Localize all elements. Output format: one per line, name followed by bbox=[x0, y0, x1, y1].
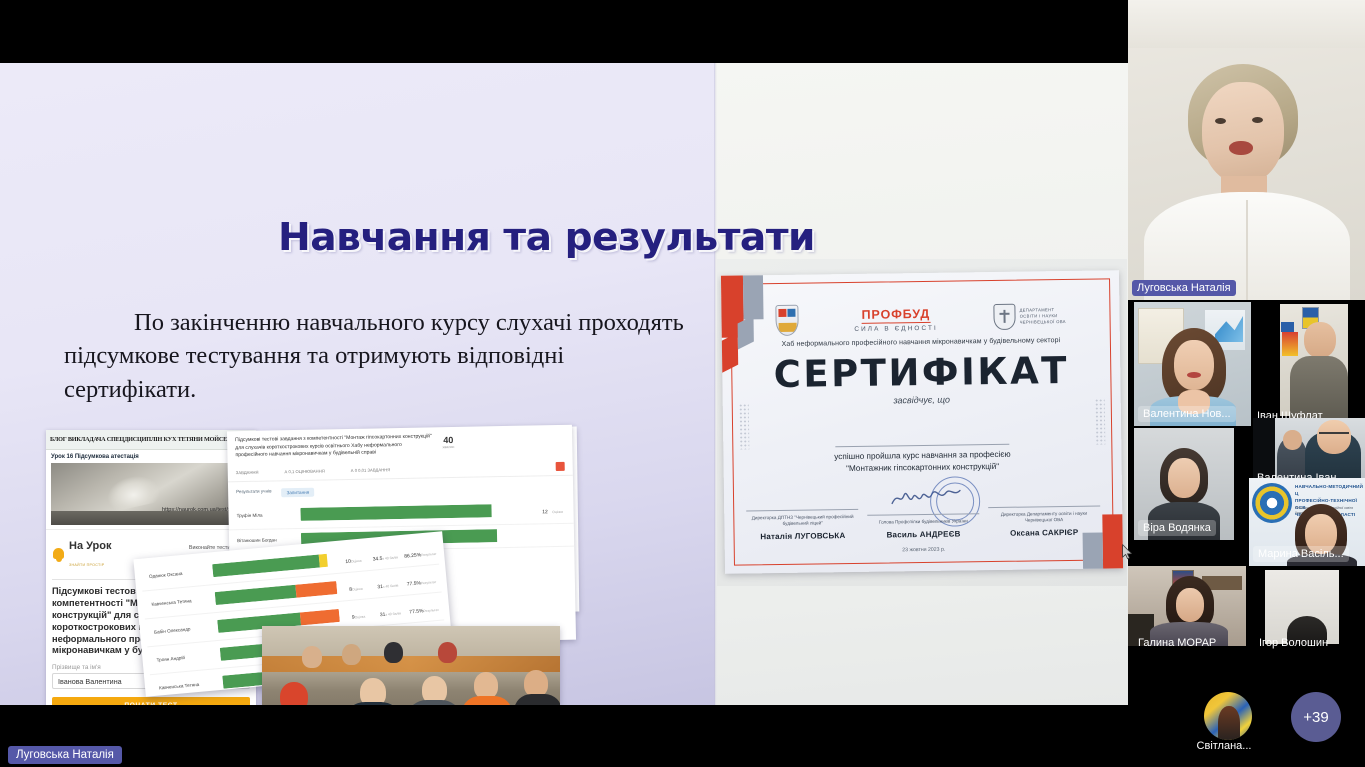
video-tile-halyna-morar[interactable] bbox=[1128, 566, 1246, 646]
naurok-brand: На Урок ЗНАЙТИ ПРОСТІР bbox=[69, 537, 112, 571]
participant-name-label: Світлана... bbox=[1176, 738, 1272, 754]
student-head bbox=[360, 678, 386, 705]
row-name: Бабін Олександр bbox=[154, 625, 212, 635]
video-tile-maryna-vasyl[interactable]: НАВЧАЛЬНО-МЕТОДИЧНИЙ ЦПРОФЕСІЙНО-ТЕХНІЧН… bbox=[1249, 478, 1365, 566]
city-emblem-icon bbox=[775, 304, 798, 335]
participant-name-label: Віра Водянка bbox=[1138, 520, 1216, 536]
screen: Навчання та результати По закінченню нав… bbox=[0, 0, 1365, 767]
row-name: Кавченська Тетяна bbox=[151, 597, 209, 607]
certificate-dots-left bbox=[739, 403, 750, 449]
row-bar bbox=[215, 581, 338, 605]
speaker-eye-right bbox=[1252, 117, 1263, 123]
signatory: Директорка ДПТНЗ "Чернівецький професійн… bbox=[747, 509, 859, 542]
duration-value: 40 bbox=[442, 435, 454, 445]
certificate-title: СЕРТИФІКАТ bbox=[722, 348, 1121, 397]
certificate-profession-line-2: "Монтажник гіпсокартонних конструкцій" bbox=[846, 462, 999, 473]
certificate: ПРОФБУД СИЛА В ЄДНОСТІ ДЕПАРТАМЕНТ ОСВІТ… bbox=[721, 270, 1123, 574]
certificate-logo-row: ПРОФБУД СИЛА В ЄДНОСТІ ДЕПАРТАМЕНТ ОСВІТ… bbox=[721, 296, 1119, 340]
row-score: 10Оцінка bbox=[339, 548, 367, 568]
speaker-wall-stripe bbox=[1128, 0, 1365, 48]
student-head bbox=[524, 670, 548, 697]
classroom-photo bbox=[262, 626, 560, 705]
row-name: Вітанюшин Богдан bbox=[237, 537, 295, 543]
overflow-participants-badge[interactable]: +39 bbox=[1291, 692, 1341, 742]
naurok-brand-name: На Урок bbox=[69, 540, 112, 552]
participant-name-label-ihor: Ігор Волошин bbox=[1259, 637, 1328, 649]
row-points: 31з 40 балів bbox=[374, 573, 402, 593]
profbud-slogan: СИЛА В ЄДНОСТІ bbox=[854, 324, 938, 332]
signatory-role: Директорка Департаменту освіти і науки Ч… bbox=[988, 510, 1100, 525]
row-percent: 77.5%Результат bbox=[408, 598, 436, 618]
shared-slide[interactable]: Навчання та результати По закінченню нав… bbox=[0, 63, 1128, 705]
meta-0: ЗАВДАННЯ bbox=[236, 470, 259, 475]
participant-lips bbox=[1187, 372, 1201, 378]
video-tile-ihor-voloshyn[interactable] bbox=[1265, 570, 1339, 644]
department-line-1: ОСВІТИ І НАУКИ bbox=[1020, 313, 1058, 319]
signatory-name: Наталія ЛУГОВСЬКА bbox=[747, 531, 859, 542]
results-header-text: Підсумкові тестові завдання з компетентн… bbox=[235, 433, 435, 460]
row-bar bbox=[300, 503, 533, 520]
certificate-dots-right bbox=[1095, 398, 1106, 444]
avatar-person bbox=[1218, 706, 1240, 740]
department-text: ДЕПАРТАМЕНТ ОСВІТИ І НАУКИ ЧЕРНІВЕЦЬКОЇ … bbox=[1020, 307, 1066, 326]
meta-2: А 0 0,01 ЗАВДАННЯ bbox=[351, 467, 391, 473]
institution-logo-icon bbox=[1252, 483, 1292, 523]
signatory: Директорка Департаменту освіти і науки Ч… bbox=[988, 505, 1100, 538]
naurok-brand-tagline: ЗНАЙТИ ПРОСТІР bbox=[69, 563, 105, 567]
participant-face bbox=[1174, 340, 1214, 390]
video-tile-valentyna-nov[interactable]: Валентина Нов... bbox=[1134, 302, 1251, 426]
row-name: Оданюк Оксана bbox=[149, 569, 207, 579]
certificate-profession-line-1: успішно пройшла курс навчання за професі… bbox=[834, 450, 1011, 461]
participant-face bbox=[1176, 588, 1204, 622]
name-input-value: Іванова Валентина bbox=[58, 677, 122, 686]
blog-site-header-text: БЛОГ ВИКЛАДАЧА СПЕЦДИСЦИПЛІН КУХ ТЕТЯНИ … bbox=[50, 436, 236, 443]
row-score: 9Оцінка bbox=[344, 604, 372, 624]
student-head bbox=[302, 646, 322, 668]
speaker-eye-left bbox=[1215, 118, 1226, 124]
glasses-icon bbox=[1319, 432, 1349, 438]
participant-name-label: Марина Васіль... bbox=[1253, 546, 1349, 562]
student-head bbox=[384, 642, 403, 663]
row-points: 31з 40 балів bbox=[376, 601, 404, 621]
row-name: Труфін Міла bbox=[237, 512, 295, 518]
page-title: Навчання та результати bbox=[278, 215, 815, 259]
start-test-button[interactable]: ПОЧАТИ ТЕСТ bbox=[52, 697, 250, 705]
signatory-name: Василь АНДРЕЄВ bbox=[867, 529, 979, 540]
speaker-mouth bbox=[1229, 141, 1253, 155]
participant-name-label-halyna: Галина МОРАР bbox=[1138, 637, 1216, 649]
meta-1: А 0,1 ОЦІНЮВАННЯ bbox=[284, 468, 324, 474]
participant-name-label: Валентина Нов... bbox=[1138, 406, 1236, 422]
video-tile-active-speaker[interactable]: Луговська Наталія bbox=[1128, 0, 1365, 300]
signature-rule bbox=[747, 509, 859, 512]
signature-rule bbox=[867, 514, 979, 517]
video-tile-vira-vodianka[interactable]: Віра Водянка bbox=[1134, 428, 1234, 540]
speaker-name-label: Луговська Наталія bbox=[1132, 280, 1236, 296]
flag-icon bbox=[556, 462, 565, 471]
row-percent: 77.5%Результат bbox=[406, 570, 434, 590]
duration-badge: 40 хвилин bbox=[442, 435, 454, 449]
blog-lesson-title: Урок 16 Підсумкова атестація bbox=[46, 450, 256, 462]
bell-icon bbox=[52, 546, 65, 562]
signatory-name: Оксана САКРІЄР bbox=[988, 528, 1100, 539]
profbud-logo: ПРОФБУД СИЛА В ЄДНОСТІ bbox=[854, 304, 938, 332]
blog-ceiling-photo bbox=[51, 463, 251, 525]
row-percent: 86.25%Результат bbox=[403, 542, 431, 562]
blog-site-header: БЛОГ ВИКЛАДАЧА СПЕЦДИСЦИПЛІН КУХ ТЕТЯНИ … bbox=[46, 430, 256, 450]
wall-poster-top bbox=[1281, 322, 1294, 332]
signatory-role: Голова Профспілки будівельників України bbox=[867, 519, 979, 527]
profbud-name: ПРОФБУД bbox=[862, 306, 931, 323]
row-name: Кавченська Тетяна bbox=[159, 680, 217, 690]
row-name: Троян Андрій bbox=[156, 652, 214, 662]
signatory: Голова Профспілки будівельників України … bbox=[867, 514, 979, 540]
student-head bbox=[342, 644, 361, 665]
participant-face bbox=[1168, 458, 1200, 498]
speaker-shirt-placket bbox=[1246, 200, 1248, 300]
department-line-2: ЧЕРНІВЕЦЬКОЇ ОВА bbox=[1020, 319, 1066, 325]
department-logo: ДЕПАРТАМЕНТ ОСВІТИ І НАУКИ ЧЕРНІВЕЦЬКОЇ … bbox=[993, 303, 1066, 330]
certificate-signatories: Директорка ДПТНЗ "Чернівецький професійн… bbox=[724, 505, 1122, 542]
wall-poster bbox=[1282, 332, 1298, 356]
student-head bbox=[438, 642, 457, 663]
avatar bbox=[1204, 692, 1252, 740]
row-bar bbox=[212, 553, 335, 577]
participant-face-secondary bbox=[1283, 430, 1302, 450]
tab-student-results[interactable]: Результати учнів bbox=[236, 488, 272, 498]
video-tile-svitlana[interactable]: Світлана... bbox=[1176, 692, 1280, 754]
duration-label: хвилин bbox=[442, 445, 454, 449]
row-points: 34.5з 40 балів bbox=[371, 545, 399, 565]
student-head bbox=[280, 682, 308, 705]
speaker-face bbox=[1202, 82, 1284, 184]
tab-questions[interactable]: Запитання bbox=[281, 488, 314, 498]
participant-face bbox=[1304, 322, 1336, 358]
video-tile-ivan-shuflat[interactable]: Іван Шуфлат bbox=[1253, 300, 1365, 428]
participant-rail[interactable]: Луговська Наталія Валентина Нов... Ів bbox=[1128, 0, 1365, 767]
certificate-photo: ПРОФБУД СИЛА В ЄДНОСТІ ДЕПАРТАМЕНТ ОСВІТ… bbox=[717, 259, 1127, 586]
department-line-0: ДЕПАРТАМЕНТ bbox=[1020, 307, 1055, 312]
row-score: 8Оцінка bbox=[342, 576, 370, 596]
row-score: 12 Оцінка bbox=[539, 500, 565, 518]
tile-video bbox=[1280, 304, 1348, 416]
signatory-role: Директорка ДПТНЗ "Чернівецький професійн… bbox=[747, 514, 859, 529]
presenter-name-badge: Луговська Наталія bbox=[8, 746, 122, 764]
collage-group: БЛОГ ВИКЛАДАЧА СПЕЦДИСЦИПЛІН КУХ ТЕТЯНИ … bbox=[46, 430, 566, 705]
signature-rule bbox=[988, 505, 1100, 508]
slide-body-text: По закінченню навчального курсу слухачі … bbox=[64, 306, 689, 406]
department-seal-icon bbox=[993, 304, 1015, 330]
student-head bbox=[474, 672, 498, 699]
